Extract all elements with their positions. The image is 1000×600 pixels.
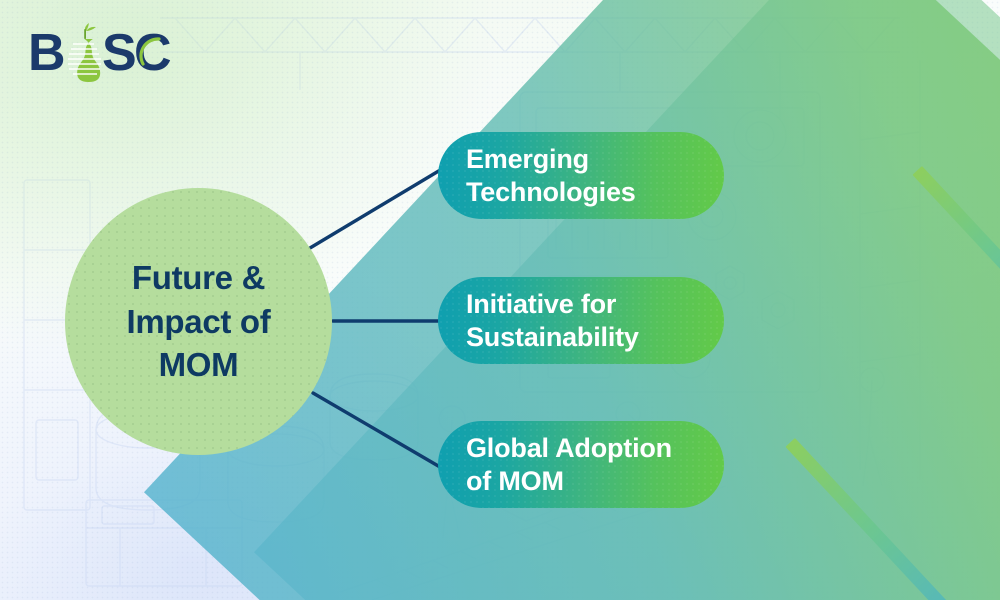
pear-icon xyxy=(68,23,101,82)
logo-letter-b: B xyxy=(28,24,66,82)
central-hub-label: Future & Impact of MOM xyxy=(113,256,285,387)
logo-letter-s: S xyxy=(102,24,137,82)
branch-node-global-adoption-of-mom[interactable]: Global Adoption of MOM xyxy=(438,421,724,508)
branch-label-emerging-technologies: Emerging Technologies xyxy=(466,143,636,208)
branch-node-initiative-for-sustainability[interactable]: Initiative for Sustainability xyxy=(438,277,724,364)
branch-node-emerging-technologies[interactable]: Emerging Technologies xyxy=(438,132,724,219)
infographic-canvas: B S C xyxy=(0,0,1000,600)
branch-label-initiative-for-sustainability: Initiative for Sustainability xyxy=(466,288,639,353)
central-hub-circle[interactable]: Future & Impact of MOM xyxy=(65,188,332,455)
bosc-logo[interactable]: B S C xyxy=(28,20,178,82)
branch-label-global-adoption-of-mom: Global Adoption of MOM xyxy=(466,432,672,497)
